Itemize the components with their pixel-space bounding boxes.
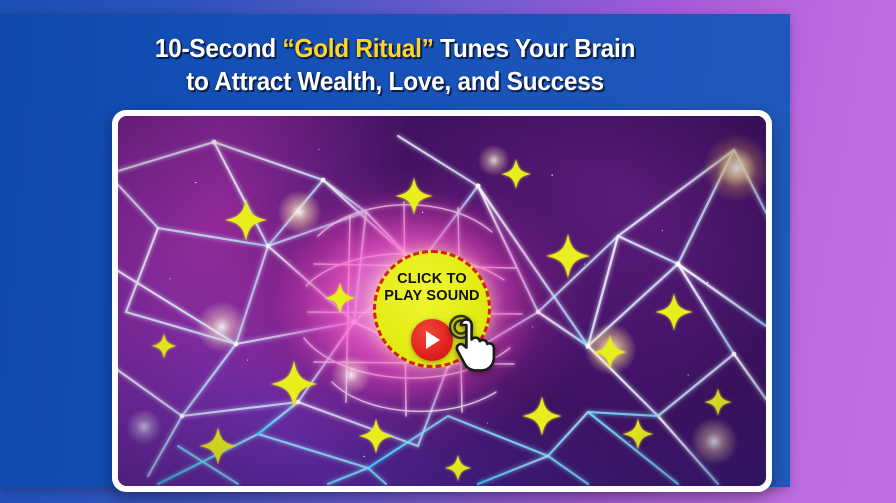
content-panel: 10-Second “Gold Ritual” Tunes Your Brain… xyxy=(0,14,790,487)
play-sound-overlay[interactable]: CLICK TO PLAY SOUND xyxy=(373,250,491,368)
page-title: 10-Second “Gold Ritual” Tunes Your Brain… xyxy=(24,32,767,99)
play-sound-label: CLICK TO PLAY SOUND xyxy=(373,271,491,305)
video-card[interactable]: CLICK TO PLAY SOUND xyxy=(112,110,772,492)
cta-line-2: PLAY SOUND xyxy=(373,288,491,305)
headline-line1-post: Tunes Your Brain xyxy=(434,33,636,63)
headline-line1-pre: 10-Second xyxy=(155,33,283,63)
headline-gold-phrase: “Gold Ritual” xyxy=(282,33,433,63)
pointing-hand-cursor-icon xyxy=(445,312,501,374)
headline-line-1: 10-Second “Gold Ritual” Tunes Your Brain xyxy=(24,32,767,65)
headline-line-2: to Attract Wealth, Love, and Success xyxy=(24,65,767,98)
video-player[interactable]: CLICK TO PLAY SOUND xyxy=(118,116,766,486)
cta-line-1: CLICK TO xyxy=(373,271,491,288)
